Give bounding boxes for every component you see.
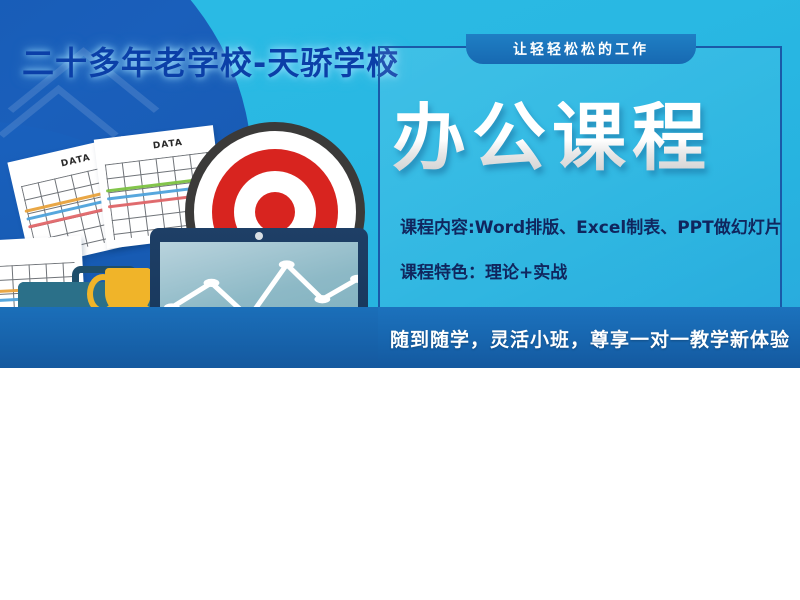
data-sheet-label: DATA <box>60 153 92 170</box>
tagline-text: 让轻轻松松的工作 <box>513 39 649 59</box>
headline-text: 办公课程 <box>392 101 712 175</box>
tagline-tab: 让轻轻松松的工作 <box>466 34 696 64</box>
school-name-title: 二十多年老学校-天骄学校 <box>22 38 399 84</box>
course-list-section: 开设的热门课程有： OFFICE办公软件、平面设计（CORELDRAW、 PHO… <box>0 368 800 600</box>
course-content-line: 课程内容:Word排版、Excel制表、PPT做幻灯片 <box>400 213 782 238</box>
banner-section: DATA DATA DATA <box>0 0 800 368</box>
laptop-camera <box>255 232 263 240</box>
course-feature-line: 课程特色：理论+实战 <box>400 258 567 283</box>
target-bullseye-center <box>255 192 295 232</box>
strip-slogan-text: 随到随学，灵活小班，尊享一对一教学新体验 <box>390 325 790 352</box>
data-sheet-label: DATA <box>152 138 183 152</box>
promotional-poster: DATA DATA DATA <box>0 0 800 600</box>
headline-container: 办公课程 <box>392 92 782 184</box>
strip-left-shade <box>0 307 378 368</box>
